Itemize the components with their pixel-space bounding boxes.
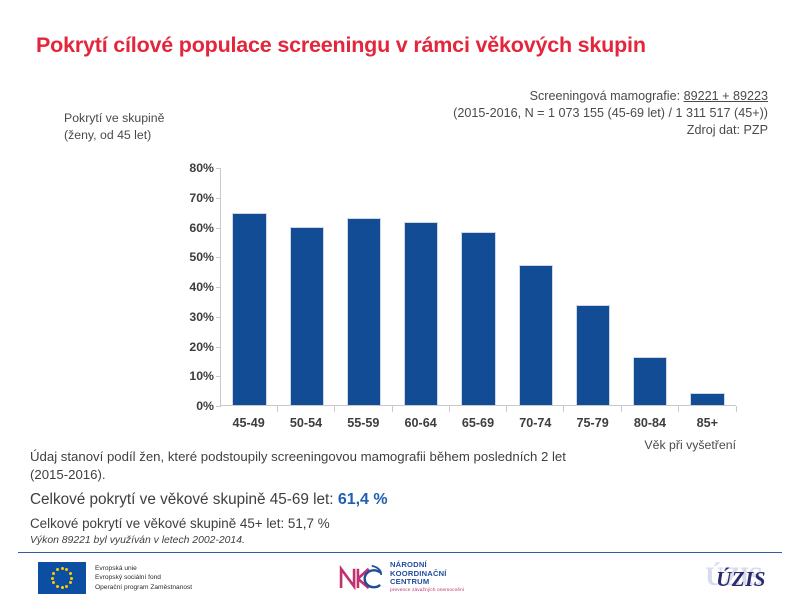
eu-star-icon: [61, 586, 64, 589]
y-axis-tick-mark: [216, 228, 221, 229]
notes-block: Údaj stanoví podíl žen, které podstoupil…: [30, 448, 730, 531]
chart-bar[interactable]: [347, 218, 381, 405]
eu-star-icon: [65, 585, 68, 588]
y-axis-tick-mark: [216, 347, 221, 348]
chart-y-axis-caption-line2: (ženy, od 45 let): [64, 127, 164, 144]
y-axis-tick-mark: [216, 406, 221, 407]
x-axis-tick-label: 80-84: [621, 416, 678, 430]
chart-y-axis-caption-line1: Pokrytí ve skupině: [64, 110, 164, 127]
chart-bar-slot: [450, 168, 507, 405]
chart-bar[interactable]: [232, 213, 266, 405]
nkc-text-line4: prevence závažných onemocnění: [390, 587, 464, 595]
y-axis-tick-label: 70%: [189, 191, 214, 205]
x-axis-tick-label: 45-49: [220, 416, 277, 430]
uzis-logo: ÚZIS ÚZIS: [676, 560, 772, 594]
header-info-block: Screeningová mamografie: 89221 + 89223 (…: [453, 88, 768, 139]
chart-bar[interactable]: [519, 265, 553, 405]
chart-bar-slot: [564, 168, 621, 405]
eu-star-icon: [52, 572, 55, 575]
chart-plot-area: [220, 168, 736, 406]
x-axis-tick-mark: [622, 406, 679, 412]
chart-bar[interactable]: [633, 357, 667, 405]
x-axis-tick-mark: [679, 406, 736, 412]
chart-bar-slot: [335, 168, 392, 405]
page-title: Pokrytí cílové populace screeningu v rám…: [36, 33, 766, 58]
y-axis-tick-mark: [216, 257, 221, 258]
eu-star-icon: [51, 577, 54, 580]
x-axis-tick-label: 85+: [679, 416, 736, 430]
eu-star-icon: [56, 568, 59, 571]
eu-text-line2: Evropský sociální fond: [95, 573, 192, 582]
footer-divider: [18, 552, 782, 553]
x-axis-tick-mark: [564, 406, 621, 412]
x-axis-tick-label: 60-64: [392, 416, 449, 430]
y-axis-tick-label: 20%: [189, 340, 214, 354]
y-axis-tick-mark: [216, 376, 221, 377]
eu-star-icon: [56, 585, 59, 588]
chart-bar-slot: [679, 168, 736, 405]
x-axis-tick-labels: 45-4950-5455-5960-6465-6970-7475-7980-84…: [220, 416, 736, 430]
x-axis-tick-label: 50-54: [277, 416, 334, 430]
chart-bar[interactable]: [576, 305, 610, 405]
y-axis-tick-mark: [216, 168, 221, 169]
y-axis-tick-label: 40%: [189, 280, 214, 294]
chart-bar[interactable]: [461, 232, 495, 405]
x-axis-tick-mark: [507, 406, 564, 412]
chart-bar-slot: [393, 168, 450, 405]
eu-flag-icon: [38, 562, 86, 594]
x-axis-tick-mark: [221, 406, 278, 412]
header-line-source: Zdroj dat: PZP: [453, 122, 768, 139]
eu-star-icon: [70, 577, 73, 580]
x-axis-tick-mark: [450, 406, 507, 412]
note-total-45-plus: Celkové pokrytí ve věkové skupině 45+ le…: [30, 516, 730, 531]
chart-bar-slot: [221, 168, 278, 405]
chart-bar-slot: [622, 168, 679, 405]
uzis-logo-text: ÚZIS: [716, 567, 766, 592]
chart-y-axis-caption: Pokrytí ve skupině (ženy, od 45 let): [64, 110, 164, 144]
x-axis-tick-label: 70-74: [507, 416, 564, 430]
chart-bar-slot: [507, 168, 564, 405]
eu-star-icon: [52, 581, 55, 584]
eu-text-line1: Evropská unie: [95, 564, 192, 573]
x-axis-tick-mark: [335, 406, 392, 412]
y-axis-tick-mark: [216, 317, 221, 318]
chart-bar[interactable]: [690, 393, 724, 405]
eu-star-icon: [69, 581, 72, 584]
note-description-line2: (2015-2016).: [30, 466, 730, 484]
footnote: Výkon 89221 byl využíván v letech 2002-2…: [30, 535, 245, 546]
y-axis-tick-mark: [216, 198, 221, 199]
header-mamografie-label: Screeningová mamografie:: [530, 89, 684, 103]
chart-bar[interactable]: [404, 222, 438, 405]
eu-text-line3: Operační program Zaměstnanost: [95, 583, 192, 592]
note-total-45-69-value: 61,4 %: [338, 491, 388, 508]
x-axis-ticks: [221, 406, 736, 412]
chart-bar[interactable]: [290, 227, 324, 405]
y-axis-tick-labels: 0%10%20%30%40%50%60%70%80%: [176, 168, 214, 406]
x-axis-tick-label: 75-79: [564, 416, 621, 430]
note-total-45-69: Celkové pokrytí ve věkové skupině 45-69 …: [30, 491, 730, 509]
x-axis-tick-mark: [278, 406, 335, 412]
chart-bars: [221, 168, 736, 405]
x-axis-tick-label: 65-69: [449, 416, 506, 430]
eu-logo: Evropská unie Evropský sociální fond Ope…: [38, 562, 192, 594]
y-axis-tick-label: 10%: [189, 369, 214, 383]
y-axis-tick-label: 80%: [189, 161, 214, 175]
x-axis-tick-mark: [393, 406, 450, 412]
note-description-line1: Údaj stanoví podíl žen, které podstoupil…: [30, 448, 730, 466]
eu-star-icon: [61, 567, 64, 570]
y-axis-tick-label: 30%: [189, 310, 214, 324]
y-axis-tick-label: 0%: [196, 399, 214, 413]
coverage-bar-chart: 0%10%20%30%40%50%60%70%80% 45-4950-5455-…: [176, 168, 736, 416]
eu-logo-text: Evropská unie Evropský sociální fond Ope…: [95, 564, 192, 592]
header-procedure-codes: 89221 + 89223: [684, 89, 768, 103]
note-total-45-69-label: Celkové pokrytí ve věkové skupině 45-69 …: [30, 491, 338, 508]
footer-logos: Evropská unie Evropský sociální fond Ope…: [0, 556, 800, 600]
y-axis-tick-mark: [216, 287, 221, 288]
eu-star-icon: [65, 568, 68, 571]
x-axis-tick-label: 55-59: [335, 416, 392, 430]
nkc-logo-text: NÁRODNÍ KOORDINAČNÍ CENTRUM prevence záv…: [390, 561, 464, 595]
header-line-period: (2015-2016, N = 1 073 155 (45-69 let) / …: [453, 105, 768, 122]
nkc-text-line3: CENTRUM: [390, 578, 464, 587]
nkc-monogram-icon: [338, 563, 384, 593]
y-axis-tick-label: 60%: [189, 221, 214, 235]
chart-bar-slot: [278, 168, 335, 405]
eu-star-icon: [69, 572, 72, 575]
header-line-mamografie: Screeningová mamografie: 89221 + 89223: [453, 88, 768, 105]
y-axis-tick-label: 50%: [189, 250, 214, 264]
nkc-logo: NÁRODNÍ KOORDINAČNÍ CENTRUM prevence záv…: [338, 561, 464, 595]
